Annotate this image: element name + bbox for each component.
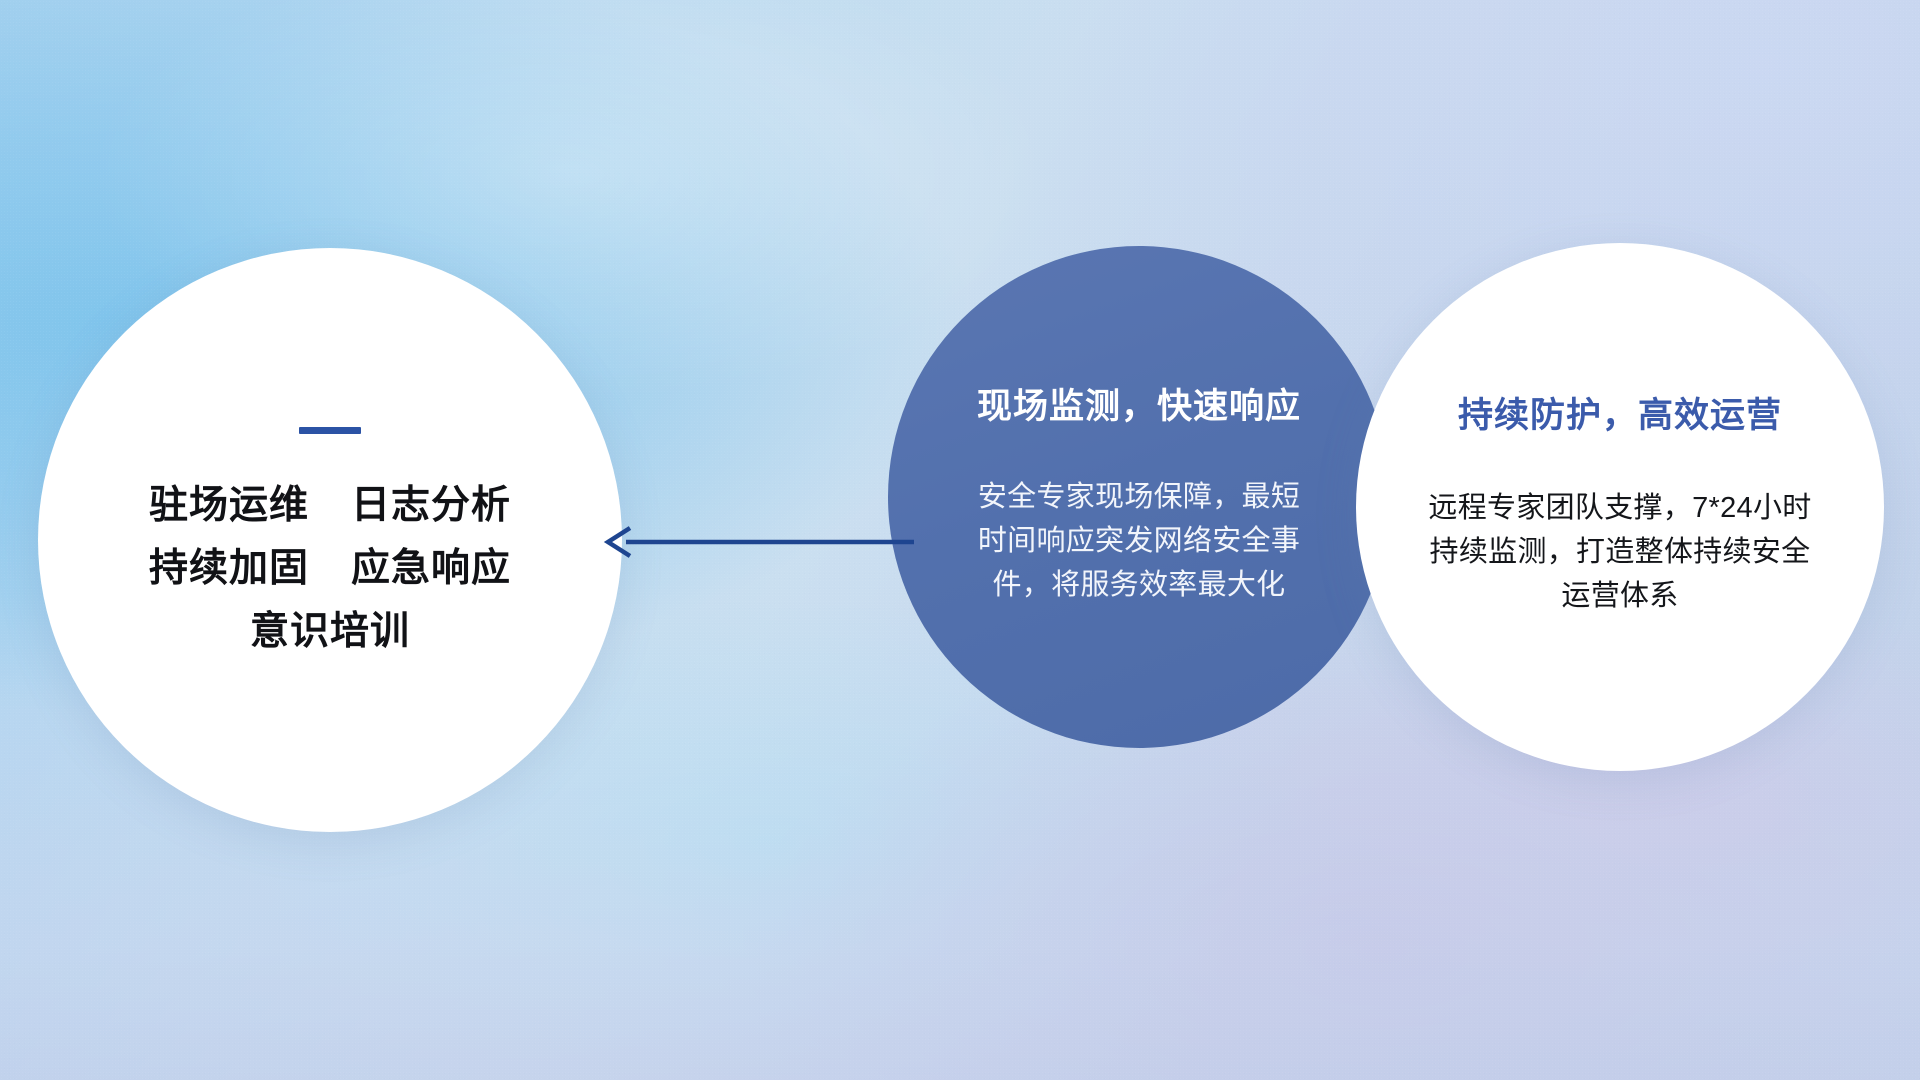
onsite-monitoring-body: 安全专家现场保障，最短时间响应突发网络安全事件，将服务效率最大化 [974,475,1304,607]
capability-tag-row: 驻场运维 日志分析 [149,486,511,527]
capability-tag[interactable]: 日志分析 [351,486,511,527]
capability-tag[interactable]: 意识培训 [250,612,410,653]
capability-tag[interactable]: 驻场运维 [149,486,309,527]
capability-tag[interactable]: 持续加固 [149,549,309,590]
onsite-monitoring-title: 现场监测，快速响应 [977,387,1301,427]
capability-tag-list: 驻场运维 日志分析 持续加固 应急响应 意识培训 [149,486,511,653]
capability-tag-row: 持续加固 应急响应 [149,549,511,590]
flow-arrow-left-icon [596,520,916,564]
divider-dash [299,427,361,434]
onsite-monitoring-circle[interactable]: 现场监测，快速响应 安全专家现场保障，最短时间响应突发网络安全事件，将服务效率最… [888,246,1390,748]
capability-tag[interactable]: 应急响应 [351,549,511,590]
diagram-stage: 驻场运维 日志分析 持续加固 应急响应 意识培训 现场监测，快速响应 安全专家现… [0,0,1920,1080]
capability-tag-row: 意识培训 [149,612,511,653]
capabilities-circle[interactable]: 驻场运维 日志分析 持续加固 应急响应 意识培训 [38,248,622,832]
continuous-protection-circle[interactable]: 持续防护，高效运营 远程专家团队支撑，7*24小时持续监测，打造整体持续安全运营… [1356,243,1884,771]
continuous-protection-body: 远程专家团队支撑，7*24小时持续监测，打造整体持续安全运营体系 [1424,486,1816,618]
continuous-protection-title: 持续防护，高效运营 [1458,396,1782,436]
